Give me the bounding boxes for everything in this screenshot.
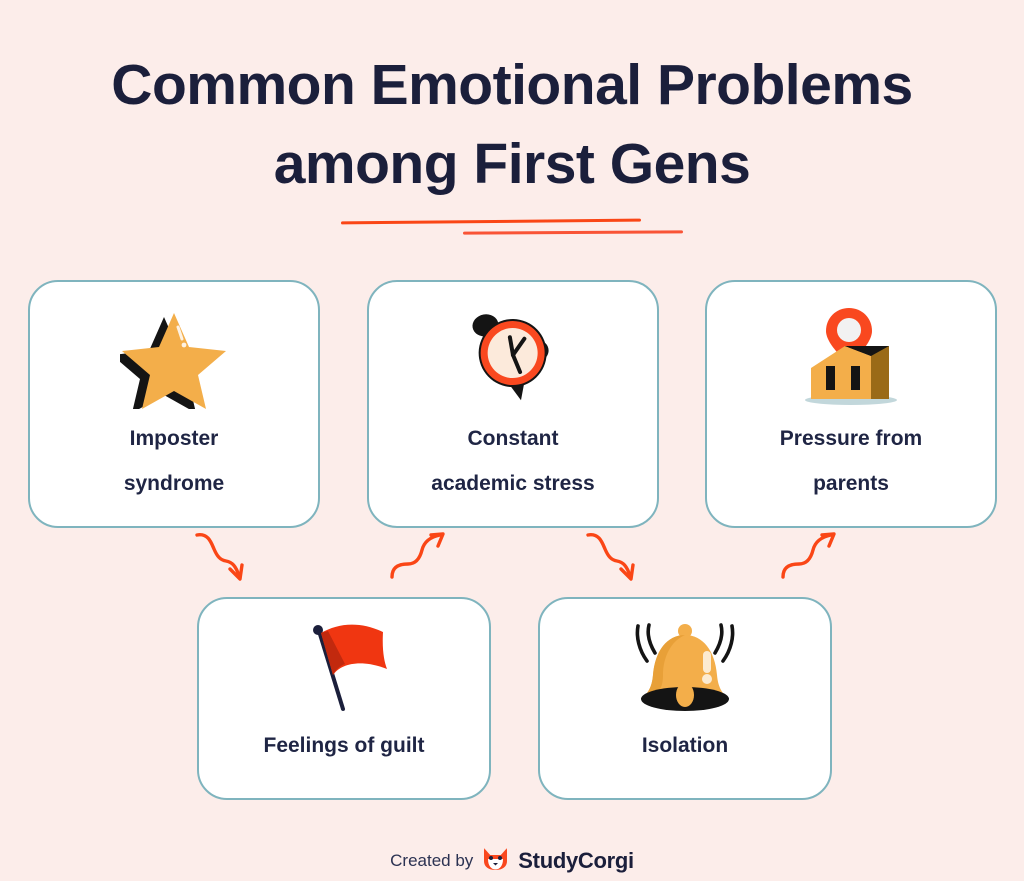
title-underline-decoration	[0, 205, 1024, 250]
underline-stroke-1	[341, 219, 641, 225]
alarm-clock-icon	[461, 298, 565, 416]
ringing-bell-icon	[627, 613, 743, 723]
page-title-line-2: among First Gens	[0, 125, 1024, 204]
brand-name: StudyCorgi	[518, 848, 634, 874]
card-pressure-from-parents[interactable]: Pressure from parents	[705, 280, 997, 528]
card-label-stress-line2: academic stress	[417, 461, 608, 506]
card-label-imposter-line2: syndrome	[110, 461, 238, 506]
underline-stroke-2	[463, 230, 683, 234]
card-feelings-of-guilt[interactable]: Feelings of guilt	[197, 597, 491, 800]
card-label-guilt: Feelings of guilt	[250, 723, 439, 768]
connector-arrows	[0, 520, 1024, 610]
star-icon	[120, 298, 228, 416]
card-academic-stress[interactable]: Constant academic stress	[367, 280, 659, 528]
page-title-line-1: Common Emotional Problems	[0, 46, 1024, 125]
house-location-pin-icon	[795, 298, 907, 416]
card-label-imposter-line1: Imposter	[116, 416, 233, 461]
card-label-isolation: Isolation	[628, 723, 742, 768]
card-label-stress-line1: Constant	[454, 416, 573, 461]
card-label-parents-line2: parents	[799, 461, 903, 506]
page-title: Common Emotional Problems among First Ge…	[0, 46, 1024, 204]
card-imposter-syndrome[interactable]: Imposter syndrome	[28, 280, 320, 528]
created-by-label: Created by	[390, 851, 473, 871]
footer-branding: Created by StudyCorgi	[0, 846, 1024, 876]
card-isolation[interactable]: Isolation	[538, 597, 832, 800]
arrow-imposter-to-guilt	[197, 535, 242, 579]
arrow-stress-to-isolation	[588, 535, 633, 579]
arrow-guilt-to-stress	[392, 534, 443, 577]
corgi-face-icon	[482, 846, 509, 876]
arrow-isolation-to-parents	[783, 534, 834, 577]
red-flag-icon	[288, 613, 400, 723]
card-label-parents-line1: Pressure from	[766, 416, 936, 461]
